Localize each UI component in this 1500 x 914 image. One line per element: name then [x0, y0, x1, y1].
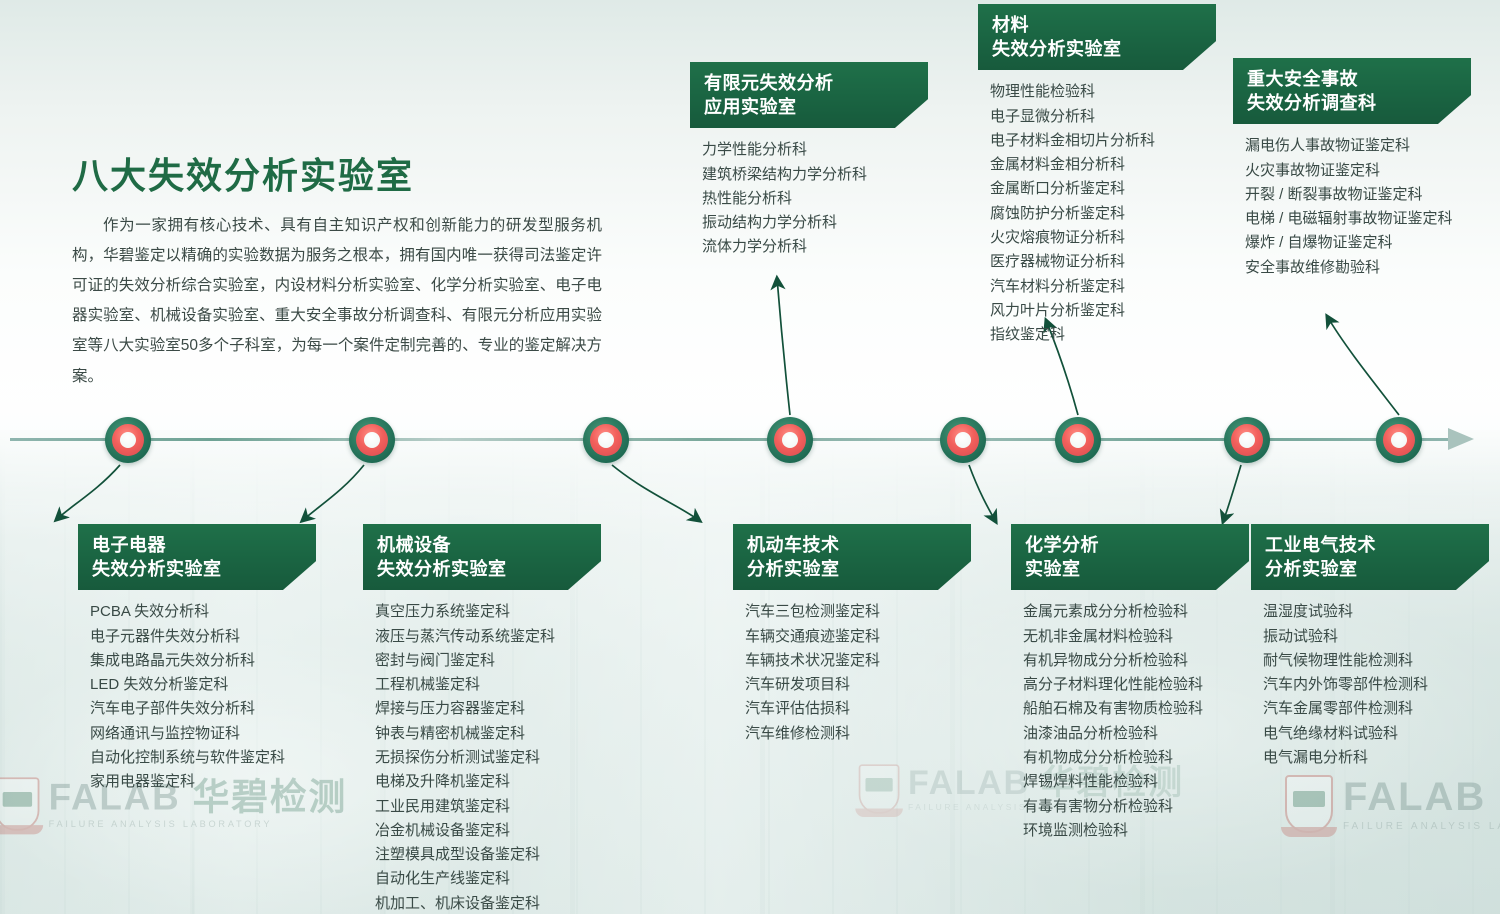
card-title-line1: 材料 [992, 15, 1029, 35]
list-item: 汽车金属零部件检测科 [1263, 697, 1489, 721]
list-item: 振动结构力学分析科 [702, 211, 928, 235]
list-item: 液压与蒸汽传动系统鉴定科 [375, 625, 601, 649]
list-item: 焊锡焊料性能检验科 [1023, 770, 1249, 794]
list-item: 电子材料金相切片分析科 [990, 129, 1216, 153]
list-item: 指纹鉴定科 [990, 323, 1216, 347]
timeline-node-5[interactable] [940, 417, 986, 463]
card-item-list: 金属元素成分分析检验科 无机非金属材料检验科 有机异物成分分析检验科 高分子材料… [1011, 600, 1249, 843]
card-header: 化学分析 实验室 [1011, 524, 1249, 590]
timeline-node-2[interactable] [349, 417, 395, 463]
card-major-safety-accident[interactable]: 重大安全事故 失效分析调查科 漏电伤人事故物证鉴定科 火灾事故物证鉴定科 开裂 … [1233, 58, 1471, 280]
timeline-node-3[interactable] [583, 417, 629, 463]
falab-shield-icon [1285, 775, 1333, 833]
card-header: 机动车技术 分析实验室 [733, 524, 971, 590]
timeline-node-4[interactable] [767, 417, 813, 463]
card-finite-element[interactable]: 有限元失效分析 应用实验室 力学性能分析科 建筑桥梁结构力学分析科 热性能分析科… [690, 62, 928, 260]
list-item: 电子显微分析科 [990, 105, 1216, 129]
list-item: 工业民用建筑鉴定科 [375, 795, 601, 819]
card-header: 有限元失效分析 应用实验室 [690, 62, 928, 128]
timeline-node-1[interactable] [105, 417, 151, 463]
timeline-node-7[interactable] [1224, 417, 1270, 463]
list-item: 热性能分析科 [702, 187, 928, 211]
card-title-line2: 应用实验室 [704, 95, 894, 119]
card-item-list: 汽车三包检测鉴定科 车辆交通痕迹鉴定科 车辆技术状况鉴定科 汽车研发项目科 汽车… [733, 600, 971, 746]
list-item: 无损探伤分析测试鉴定科 [375, 746, 601, 770]
list-item: 火灾熔痕物证分析科 [990, 226, 1216, 250]
list-item: 环境监测检验科 [1023, 819, 1249, 843]
list-item: 汽车内外饰零部件检测科 [1263, 673, 1489, 697]
card-title-line2: 失效分析实验室 [992, 37, 1182, 61]
card-electronics[interactable]: 电子电器 失效分析实验室 PCBA 失效分析科 电子元器件失效分析科 集成电路晶… [78, 524, 316, 795]
list-item: 电梯及升降机鉴定科 [375, 770, 601, 794]
card-title-line2: 失效分析调查科 [1247, 91, 1437, 115]
list-item: 高分子材料理化性能检验科 [1023, 673, 1249, 697]
card-title-line1: 化学分析 [1025, 535, 1099, 555]
card-title-line1: 有限元失效分析 [704, 73, 834, 93]
card-title-line2: 分析实验室 [747, 557, 937, 581]
watermark-en: FALAB [1343, 775, 1499, 819]
list-item: 耐气候物理性能检测科 [1263, 649, 1489, 673]
timeline-axis [0, 437, 1500, 443]
list-item: 工程机械鉴定科 [375, 673, 601, 697]
card-header: 重大安全事故 失效分析调查科 [1233, 58, 1471, 124]
list-item: 船舶石棉及有害物质检验科 [1023, 697, 1249, 721]
list-item: 金属材料金相分析科 [990, 153, 1216, 177]
list-item: 注塑模具成型设备鉴定科 [375, 843, 601, 867]
list-item: 冶金机械设备鉴定科 [375, 819, 601, 843]
list-item: 电梯 / 电磁辐射事故物证鉴定科 [1245, 207, 1471, 231]
list-item: 风力叶片分析鉴定科 [990, 299, 1216, 323]
card-title-line1: 重大安全事故 [1247, 69, 1358, 89]
list-item: 汽车维修检测科 [745, 722, 971, 746]
card-item-list: 温湿度试验科 振动试验科 耐气候物理性能检测科 汽车内外饰零部件检测科 汽车金属… [1251, 600, 1489, 770]
watermark-falab-right: FALAB 华碧检测 FAILURE ANALYSIS LABORATORY [1285, 775, 1500, 833]
falab-shield-icon [0, 777, 39, 830]
card-motor-vehicle[interactable]: 机动车技术 分析实验室 汽车三包检测鉴定科 车辆交通痕迹鉴定科 车辆技术状况鉴定… [733, 524, 971, 746]
list-item: 有机物成分分析检验科 [1023, 746, 1249, 770]
timeline-arrow-icon [1448, 428, 1474, 450]
list-item: 建筑桥梁结构力学分析科 [702, 163, 928, 187]
timeline-node-6[interactable] [1055, 417, 1101, 463]
list-item: 开裂 / 断裂事故物证鉴定科 [1245, 183, 1471, 207]
list-item: 安全事故维修勘验科 [1245, 256, 1471, 280]
list-item: 流体力学分析科 [702, 235, 928, 259]
list-item: 爆炸 / 自爆物证鉴定科 [1245, 231, 1471, 255]
card-header: 电子电器 失效分析实验室 [78, 524, 316, 590]
list-item: 温湿度试验科 [1263, 600, 1489, 624]
list-item: 车辆技术状况鉴定科 [745, 649, 971, 673]
list-item: 汽车材料分析鉴定科 [990, 275, 1216, 299]
list-item: 集成电路晶元失效分析科 [90, 649, 316, 673]
list-item: 焊接与压力容器鉴定科 [375, 697, 601, 721]
card-title-line2: 实验室 [1025, 557, 1215, 581]
list-item: 网络通讯与监控物证科 [90, 722, 316, 746]
list-item: 汽车三包检测鉴定科 [745, 600, 971, 624]
list-item: 密封与阀门鉴定科 [375, 649, 601, 673]
list-item: 真空压力系统鉴定科 [375, 600, 601, 624]
falab-shield-icon [859, 764, 900, 813]
list-item: 自动化控制系统与软件鉴定科 [90, 746, 316, 770]
list-item: PCBA 失效分析科 [90, 600, 316, 624]
card-title-line1: 机械设备 [377, 535, 451, 555]
list-item: 汽车研发项目科 [745, 673, 971, 697]
list-item: 汽车电子部件失效分析科 [90, 697, 316, 721]
list-item: 有毒有害物分析检验科 [1023, 795, 1249, 819]
list-item: 金属断口分析鉴定科 [990, 177, 1216, 201]
list-item: 钟表与精密机械鉴定科 [375, 722, 601, 746]
list-item: 振动试验科 [1263, 625, 1489, 649]
card-header: 工业电气技术 分析实验室 [1251, 524, 1489, 590]
timeline-node-8[interactable] [1376, 417, 1422, 463]
page-title: 八大失效分析实验室 [72, 157, 602, 197]
card-title-line2: 分析实验室 [1265, 557, 1455, 581]
list-item: 漏电伤人事故物证鉴定科 [1245, 134, 1471, 158]
card-title-line1: 电子电器 [92, 535, 166, 555]
card-title-line1: 工业电气技术 [1265, 535, 1376, 555]
card-title-line1: 机动车技术 [747, 535, 840, 555]
list-item: 汽车评估估损科 [745, 697, 971, 721]
list-item: 无机非金属材料检验科 [1023, 625, 1249, 649]
list-item: 油漆油品分析检验科 [1023, 722, 1249, 746]
list-item: 物理性能检验科 [990, 80, 1216, 104]
card-header: 材料 失效分析实验室 [978, 4, 1216, 70]
card-item-list: 力学性能分析科 建筑桥梁结构力学分析科 热性能分析科 振动结构力学分析科 流体力… [690, 138, 928, 259]
intro-paragraph: 作为一家拥有核心技术、具有自主知识产权和创新能力的研发型服务机构，华碧鉴定以精确… [72, 211, 602, 392]
watermark-subtitle: FAILURE ANALYSIS LABORATORY [49, 820, 347, 829]
list-item: LED 失效分析鉴定科 [90, 673, 316, 697]
watermark-subtitle: FAILURE ANALYSIS LABORATORY [1343, 822, 1500, 832]
list-item: 腐蚀防护分析鉴定科 [990, 202, 1216, 226]
list-item: 有机异物成分分析检验科 [1023, 649, 1249, 673]
card-title-line2: 失效分析实验室 [377, 557, 567, 581]
card-title-line2: 失效分析实验室 [92, 557, 282, 581]
card-item-list: 物理性能检验科 电子显微分析科 电子材料金相切片分析科 金属材料金相分析科 金属… [978, 80, 1216, 347]
list-item: 自动化生产线鉴定科 [375, 867, 601, 891]
list-item: 电气漏电分析科 [1263, 746, 1489, 770]
list-item: 家用电器鉴定科 [90, 770, 316, 794]
card-mechanical[interactable]: 机械设备 失效分析实验室 真空压力系统鉴定科 液压与蒸汽传动系统鉴定科 密封与阀… [363, 524, 601, 914]
list-item: 电气绝缘材料试验科 [1263, 722, 1489, 746]
infographic-canvas: FALAB 华碧检测 FAILURE ANALYSIS LABORATORY F… [0, 0, 1500, 914]
list-item: 力学性能分析科 [702, 138, 928, 162]
list-item: 车辆交通痕迹鉴定科 [745, 625, 971, 649]
card-industrial-electrical[interactable]: 工业电气技术 分析实验室 温湿度试验科 振动试验科 耐气候物理性能检测科 汽车内… [1251, 524, 1489, 770]
card-chemical[interactable]: 化学分析 实验室 金属元素成分分析检验科 无机非金属材料检验科 有机异物成分分析… [1011, 524, 1249, 843]
list-item: 电子元器件失效分析科 [90, 625, 316, 649]
card-header: 机械设备 失效分析实验室 [363, 524, 601, 590]
card-item-list: PCBA 失效分析科 电子元器件失效分析科 集成电路晶元失效分析科 LED 失效… [78, 600, 316, 794]
card-materials[interactable]: 材料 失效分析实验室 物理性能检验科 电子显微分析科 电子材料金相切片分析科 金… [978, 4, 1216, 347]
list-item: 医疗器械物证分析科 [990, 250, 1216, 274]
card-item-list: 漏电伤人事故物证鉴定科 火灾事故物证鉴定科 开裂 / 断裂事故物证鉴定科 电梯 … [1233, 134, 1471, 280]
list-item: 金属元素成分分析检验科 [1023, 600, 1249, 624]
intro-block: 八大失效分析实验室 作为一家拥有核心技术、具有自主知识产权和创新能力的研发型服务… [72, 157, 602, 392]
card-item-list: 真空压力系统鉴定科 液压与蒸汽传动系统鉴定科 密封与阀门鉴定科 工程机械鉴定科 … [363, 600, 601, 914]
list-item: 机加工、机床设备鉴定科 [375, 892, 601, 914]
list-item: 火灾事故物证鉴定科 [1245, 159, 1471, 183]
